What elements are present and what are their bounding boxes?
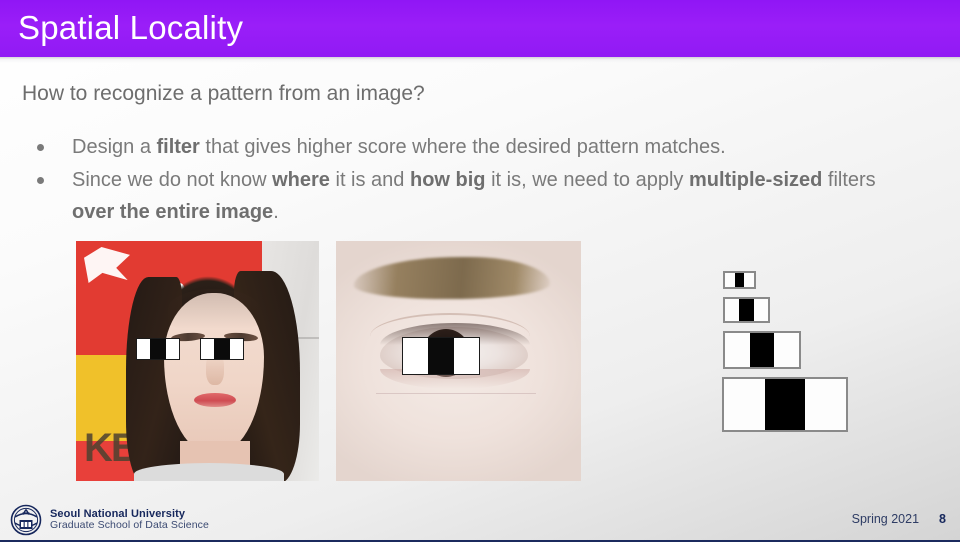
filter-band-white [725, 273, 735, 287]
bullet-list: Design a filter that gives higher score … [30, 131, 910, 229]
seoul-national-university-logo-icon [10, 504, 42, 536]
photo-portrait: tele KB [76, 241, 319, 481]
list-item: Design a filter that gives higher score … [30, 131, 910, 163]
shirt [134, 463, 284, 481]
filter-overlay-right-eye [200, 338, 244, 360]
forehead-shading [168, 289, 260, 329]
filter-band-white [774, 333, 799, 367]
filter-band-white [166, 339, 179, 359]
filter-band-white [137, 339, 150, 359]
filter-size-4 [722, 377, 848, 432]
filter-band-white [805, 379, 846, 430]
bullet-dot-icon [37, 177, 44, 184]
footer-branding: Seoul National University Graduate Schoo… [10, 504, 209, 536]
filter-band-white [403, 338, 428, 374]
footer-page-number: 8 [939, 512, 946, 526]
filter-overlay-left-eye [136, 338, 180, 360]
filter-band-white [754, 299, 768, 321]
multi-size-filter-stack [722, 268, 852, 438]
filter-band-black [739, 299, 753, 321]
filter-band-white [201, 339, 214, 359]
page-title: Spatial Locality [18, 7, 243, 49]
bullet-text: Since we do not know where it is and how… [72, 169, 876, 223]
filter-size-3 [723, 331, 801, 369]
lips [194, 393, 236, 407]
filter-band-black [214, 339, 231, 359]
filter-band-black [150, 339, 167, 359]
slide-title-bar: Spatial Locality [0, 0, 960, 57]
filter-band-black [735, 273, 745, 287]
filter-band-white [724, 379, 765, 430]
filter-band-white [454, 338, 479, 374]
lead-question: How to recognize a pattern from an image… [22, 79, 425, 109]
filter-band-white [230, 339, 243, 359]
filter-band-white [725, 299, 739, 321]
footer-meta: Spring 2021 8 [852, 512, 946, 526]
filter-overlay-eye-closeup [402, 337, 480, 375]
filter-band-black [428, 338, 453, 374]
filter-band-white [725, 333, 750, 367]
filter-band-white [744, 273, 754, 287]
filter-band-black [750, 333, 775, 367]
slide: Spatial Locality How to recognize a patt… [0, 0, 960, 542]
filter-size-2 [723, 297, 770, 323]
footer-term: Spring 2021 [852, 512, 919, 526]
list-item: Since we do not know where it is and how… [30, 164, 910, 228]
filter-size-1 [723, 271, 756, 289]
footer-department-name: Graduate School of Data Science [50, 520, 209, 532]
filter-band-black [765, 379, 806, 430]
footer-name-block: Seoul National University Graduate Schoo… [50, 508, 209, 532]
bullet-text: Design a filter that gives higher score … [72, 136, 726, 158]
bullet-dot-icon [37, 144, 44, 151]
